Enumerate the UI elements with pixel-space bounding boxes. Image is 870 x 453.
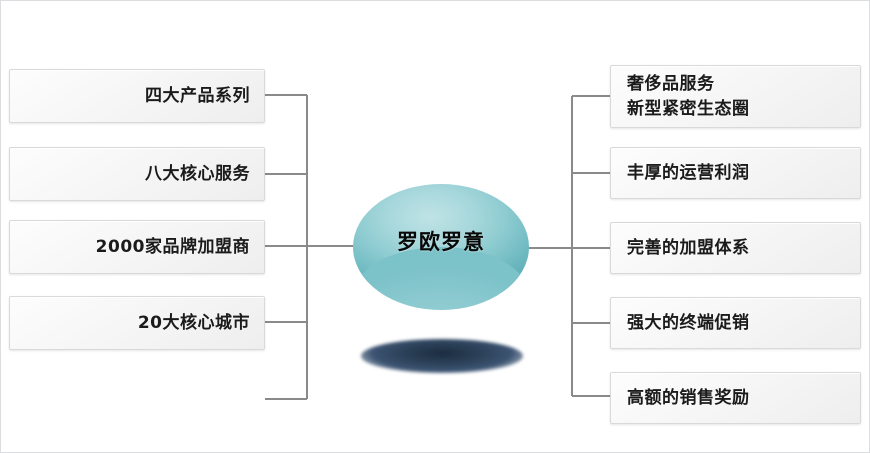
right-node-2[interactable]: 丰厚的运营利润: [610, 147, 861, 199]
left-node-1[interactable]: 四大产品系列: [9, 69, 265, 123]
right-node-3[interactable]: 完善的加盟体系: [610, 222, 861, 274]
left-node-3-label: 2000家品牌加盟商: [96, 235, 250, 260]
right-node-4[interactable]: 强大的终端促销: [610, 297, 861, 349]
right-node-4-label: 强大的终端促销: [627, 311, 750, 336]
right-node-1[interactable]: 奢侈品服务 新型紧密生态圈: [610, 65, 861, 128]
left-node-4-label: 20大核心城市: [138, 311, 250, 336]
center-node-shadow: [361, 339, 523, 373]
right-node-1-label-line-2: 新型紧密生态圈: [627, 97, 750, 122]
left-node-3[interactable]: 2000家品牌加盟商: [9, 220, 265, 274]
left-node-2-label: 八大核心服务: [145, 162, 250, 187]
right-node-5-label: 高额的销售奖励: [627, 386, 750, 411]
right-node-2-label: 丰厚的运营利润: [627, 161, 750, 186]
diagram-canvas: 罗欧罗意 四大产品系列 八大核心服务 2000家品牌加盟商 20大核心城市 奢侈…: [0, 0, 870, 453]
right-node-5[interactable]: 高额的销售奖励: [610, 372, 861, 424]
left-node-4[interactable]: 20大核心城市: [9, 296, 265, 350]
center-node[interactable]: 罗欧罗意: [353, 184, 529, 310]
right-node-3-label: 完善的加盟体系: [627, 236, 750, 261]
center-node-label: 罗欧罗意: [353, 226, 529, 256]
left-node-1-label: 四大产品系列: [145, 84, 250, 109]
left-node-2[interactable]: 八大核心服务: [9, 147, 265, 201]
right-node-1-label-line-1: 奢侈品服务: [627, 72, 715, 97]
orb-highlight-mask: [353, 247, 529, 310]
